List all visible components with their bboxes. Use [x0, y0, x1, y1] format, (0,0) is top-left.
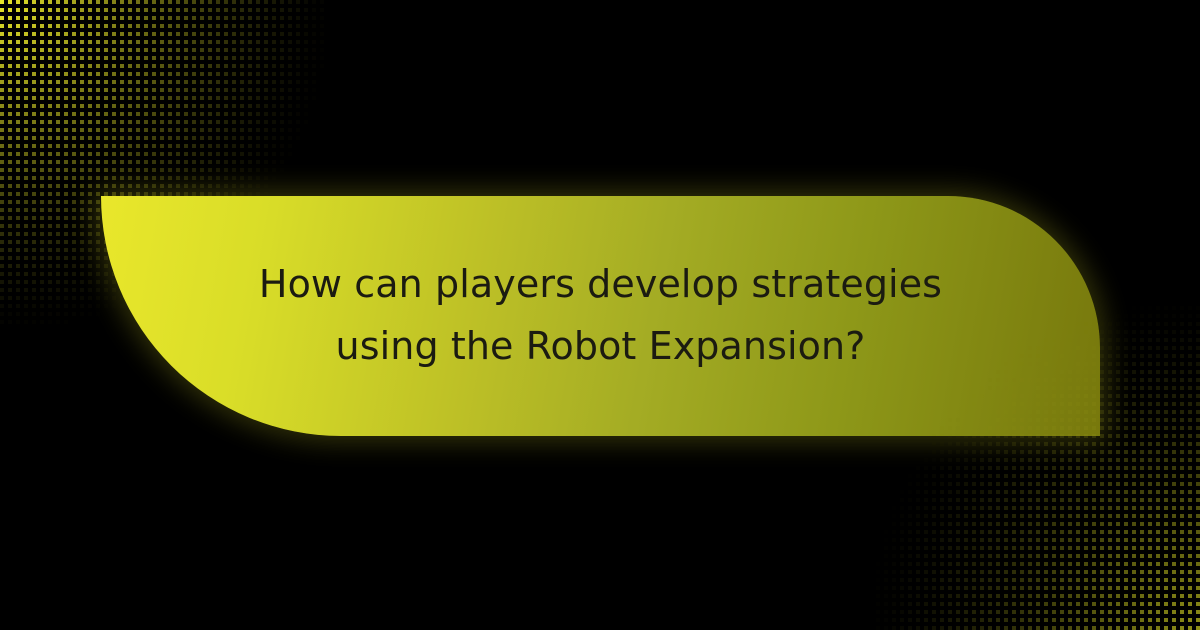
- halftone-dot: [56, 312, 60, 316]
- halftone-dot: [916, 506, 920, 510]
- halftone-dot: [256, 88, 260, 92]
- halftone-dot: [0, 144, 4, 148]
- halftone-dot: [956, 538, 960, 542]
- halftone-dot: [1100, 314, 1104, 318]
- halftone-dot: [1196, 434, 1200, 438]
- halftone-dot: [1028, 618, 1032, 622]
- halftone-dot: [32, 304, 36, 308]
- halftone-dot: [1156, 562, 1160, 566]
- halftone-dot: [1100, 330, 1104, 334]
- halftone-dot: [208, 128, 212, 132]
- halftone-dot: [8, 104, 12, 108]
- halftone-dot: [16, 120, 20, 124]
- halftone-dot: [248, 96, 252, 100]
- halftone-dot: [1084, 570, 1088, 574]
- halftone-dot: [16, 64, 20, 68]
- halftone-dot: [1172, 610, 1176, 614]
- halftone-dot: [216, 96, 220, 100]
- halftone-dot: [152, 40, 156, 44]
- halftone-dot: [8, 136, 12, 140]
- halftone-dot: [8, 96, 12, 100]
- halftone-dot: [1172, 506, 1176, 510]
- halftone-dot: [88, 240, 92, 244]
- halftone-dot: [972, 594, 976, 598]
- halftone-dot: [80, 280, 84, 284]
- halftone-dot: [24, 24, 28, 28]
- halftone-dot: [1180, 434, 1184, 438]
- halftone-dot: [136, 160, 140, 164]
- halftone-dot: [1124, 338, 1128, 342]
- halftone-dot: [1068, 594, 1072, 598]
- halftone-dot: [248, 0, 252, 4]
- halftone-dot: [304, 88, 308, 92]
- halftone-dot: [0, 96, 4, 100]
- halftone-dot: [1180, 402, 1184, 406]
- halftone-dot: [924, 466, 928, 470]
- halftone-dot: [144, 136, 148, 140]
- halftone-dot: [280, 40, 284, 44]
- halftone-dot: [64, 136, 68, 140]
- halftone-dot: [136, 56, 140, 60]
- halftone-dot: [16, 56, 20, 60]
- halftone-dot: [272, 152, 276, 156]
- halftone-dot: [1108, 402, 1112, 406]
- halftone-dot: [128, 24, 132, 28]
- halftone-dot: [1028, 466, 1032, 470]
- halftone-dot: [1172, 522, 1176, 526]
- halftone-dot: [892, 578, 896, 582]
- halftone-dot: [16, 176, 20, 180]
- halftone-dot: [288, 32, 292, 36]
- halftone-dot: [1020, 562, 1024, 566]
- halftone-dot: [72, 216, 76, 220]
- halftone-dot: [232, 56, 236, 60]
- halftone-dot: [112, 56, 116, 60]
- halftone-dot: [176, 96, 180, 100]
- halftone-dot: [64, 32, 68, 36]
- halftone-dot: [200, 112, 204, 116]
- halftone-dot: [932, 466, 936, 470]
- halftone-dot: [1164, 378, 1168, 382]
- halftone-dot: [272, 80, 276, 84]
- halftone-dot: [1164, 522, 1168, 526]
- halftone-dot: [200, 72, 204, 76]
- halftone-dot: [184, 152, 188, 156]
- halftone-dot: [876, 562, 880, 566]
- halftone-dot: [916, 514, 920, 518]
- halftone-dot: [988, 594, 992, 598]
- halftone-dot: [56, 288, 60, 292]
- halftone-dot: [80, 200, 84, 204]
- halftone-dot: [1028, 442, 1032, 446]
- halftone-dot: [40, 272, 44, 276]
- halftone-dot: [1060, 594, 1064, 598]
- halftone-dot: [1156, 570, 1160, 574]
- halftone-dot: [192, 0, 196, 4]
- halftone-dot: [224, 104, 228, 108]
- halftone-dot: [104, 32, 108, 36]
- halftone-dot: [248, 144, 252, 148]
- halftone-dot: [1004, 586, 1008, 590]
- halftone-dot: [1196, 610, 1200, 614]
- halftone-dot: [940, 522, 944, 526]
- halftone-dot: [80, 248, 84, 252]
- halftone-dot: [1180, 626, 1184, 630]
- halftone-dot: [1084, 586, 1088, 590]
- halftone-dot: [956, 522, 960, 526]
- halftone-dot: [128, 112, 132, 116]
- halftone-dot: [264, 64, 268, 68]
- halftone-dot: [1036, 490, 1040, 494]
- halftone-dot: [208, 32, 212, 36]
- halftone-dot: [288, 24, 292, 28]
- halftone-dot: [1108, 426, 1112, 430]
- halftone-dot: [232, 136, 236, 140]
- halftone-dot: [1164, 434, 1168, 438]
- halftone-dot: [988, 522, 992, 526]
- halftone-dot: [72, 0, 76, 4]
- halftone-dot: [1036, 578, 1040, 582]
- halftone-dot: [1060, 626, 1064, 630]
- halftone-dot: [16, 32, 20, 36]
- halftone-dot: [1044, 626, 1048, 630]
- halftone-dot: [320, 48, 324, 52]
- halftone-dot: [224, 40, 228, 44]
- halftone-dot: [24, 64, 28, 68]
- halftone-dot: [1116, 362, 1120, 366]
- halftone-dot: [64, 160, 68, 164]
- halftone-dot: [24, 72, 28, 76]
- halftone-dot: [96, 232, 100, 236]
- halftone-dot: [120, 72, 124, 76]
- halftone-dot: [1156, 586, 1160, 590]
- halftone-dot: [1092, 442, 1096, 446]
- halftone-dot: [0, 88, 4, 92]
- halftone-dot: [1140, 378, 1144, 382]
- halftone-dot: [1188, 506, 1192, 510]
- halftone-dot: [184, 176, 188, 180]
- halftone-dot: [296, 104, 300, 108]
- halftone-dot: [72, 160, 76, 164]
- halftone-dot: [256, 168, 260, 172]
- halftone-dot: [1132, 578, 1136, 582]
- halftone-dot: [948, 594, 952, 598]
- halftone-dot: [1100, 554, 1104, 558]
- halftone-dot: [1140, 330, 1144, 334]
- halftone-dot: [88, 96, 92, 100]
- halftone-dot: [996, 554, 1000, 558]
- halftone-dot: [272, 88, 276, 92]
- halftone-dot: [1020, 506, 1024, 510]
- halftone-dot: [160, 72, 164, 76]
- halftone-dot: [1140, 618, 1144, 622]
- halftone-dot: [940, 490, 944, 494]
- halftone-dot: [232, 16, 236, 20]
- halftone-dot: [144, 104, 148, 108]
- halftone-dot: [1148, 354, 1152, 358]
- halftone-dot: [1148, 474, 1152, 478]
- halftone-dot: [1132, 626, 1136, 630]
- halftone-dot: [144, 64, 148, 68]
- halftone-dot: [1116, 314, 1120, 318]
- halftone-dot: [24, 224, 28, 228]
- halftone-dot: [1180, 314, 1184, 318]
- halftone-dot: [96, 208, 100, 212]
- halftone-dot: [988, 490, 992, 494]
- halftone-dot: [208, 104, 212, 108]
- halftone-dot: [224, 88, 228, 92]
- halftone-dot: [184, 80, 188, 84]
- halftone-dot: [1172, 314, 1176, 318]
- halftone-dot: [964, 466, 968, 470]
- halftone-dot: [240, 112, 244, 116]
- halftone-dot: [1188, 546, 1192, 550]
- halftone-dot: [40, 192, 44, 196]
- halftone-dot: [1116, 594, 1120, 598]
- halftone-dot: [8, 120, 12, 124]
- halftone-dot: [908, 586, 912, 590]
- halftone-dot: [1036, 458, 1040, 462]
- halftone-dot: [248, 32, 252, 36]
- halftone-dot: [1012, 554, 1016, 558]
- halftone-dot: [96, 112, 100, 116]
- halftone-dot: [1100, 498, 1104, 502]
- halftone-dot: [948, 570, 952, 574]
- halftone-dot: [1180, 610, 1184, 614]
- halftone-dot: [0, 224, 4, 228]
- halftone-dot: [1156, 522, 1160, 526]
- halftone-dot: [1172, 554, 1176, 558]
- halftone-dot: [1084, 490, 1088, 494]
- halftone-dot: [972, 458, 976, 462]
- halftone-dot: [1140, 562, 1144, 566]
- halftone-dot: [56, 104, 60, 108]
- halftone-dot: [80, 96, 84, 100]
- halftone-dot: [1092, 514, 1096, 518]
- halftone-dot: [1108, 322, 1112, 326]
- halftone-dot: [932, 578, 936, 582]
- halftone-dot: [988, 482, 992, 486]
- halftone-dot: [96, 144, 100, 148]
- halftone-dot: [192, 144, 196, 148]
- halftone-dot: [104, 16, 108, 20]
- halftone-dot: [948, 458, 952, 462]
- halftone-dot: [72, 176, 76, 180]
- halftone-dot: [56, 120, 60, 124]
- halftone-dot: [72, 136, 76, 140]
- halftone-dot: [264, 112, 268, 116]
- halftone-dot: [40, 152, 44, 156]
- halftone-dot: [892, 530, 896, 534]
- halftone-dot: [1180, 378, 1184, 382]
- halftone-dot: [72, 232, 76, 236]
- halftone-dot: [256, 128, 260, 132]
- halftone-dot: [24, 240, 28, 244]
- halftone-dot: [1196, 546, 1200, 550]
- halftone-dot: [0, 0, 4, 4]
- halftone-dot: [1188, 498, 1192, 502]
- halftone-dot: [248, 24, 252, 28]
- halftone-dot: [1156, 426, 1160, 430]
- halftone-dot: [932, 586, 936, 590]
- halftone-dot: [1100, 578, 1104, 582]
- halftone-dot: [24, 128, 28, 132]
- halftone-dot: [948, 506, 952, 510]
- halftone-dot: [184, 24, 188, 28]
- halftone-dot: [264, 16, 268, 20]
- halftone-dot: [940, 586, 944, 590]
- halftone-dot: [1148, 442, 1152, 446]
- halftone-dot: [980, 442, 984, 446]
- halftone-dot: [1196, 506, 1200, 510]
- halftone-dot: [980, 578, 984, 582]
- halftone-dot: [964, 618, 968, 622]
- halftone-dot: [144, 48, 148, 52]
- halftone-dot: [924, 618, 928, 622]
- halftone-dot: [208, 152, 212, 156]
- halftone-dot: [8, 112, 12, 116]
- halftone-dot: [224, 112, 228, 116]
- halftone-dot: [1196, 378, 1200, 382]
- halftone-dot: [144, 8, 148, 12]
- halftone-dot: [104, 72, 108, 76]
- halftone-dot: [1044, 482, 1048, 486]
- halftone-dot: [32, 272, 36, 276]
- halftone-dot: [288, 72, 292, 76]
- halftone-dot: [1124, 450, 1128, 454]
- halftone-dot: [240, 128, 244, 132]
- halftone-dot: [88, 176, 92, 180]
- halftone-dot: [176, 160, 180, 164]
- halftone-dot: [1076, 594, 1080, 598]
- halftone-dot: [1180, 530, 1184, 534]
- halftone-dot: [1028, 514, 1032, 518]
- halftone-dot: [136, 136, 140, 140]
- halftone-dot: [16, 72, 20, 76]
- halftone-dot: [1108, 482, 1112, 486]
- halftone-dot: [16, 136, 20, 140]
- halftone-dot: [1100, 410, 1104, 414]
- halftone-dot: [288, 56, 292, 60]
- halftone-dot: [192, 64, 196, 68]
- halftone-dot: [1020, 586, 1024, 590]
- halftone-dot: [1164, 306, 1168, 310]
- halftone-dot: [248, 120, 252, 124]
- halftone-dot: [1108, 354, 1112, 358]
- halftone-dot: [1068, 570, 1072, 574]
- halftone-dot: [1196, 618, 1200, 622]
- halftone-dot: [1188, 570, 1192, 574]
- halftone-dot: [1060, 586, 1064, 590]
- halftone-dot: [1140, 362, 1144, 366]
- halftone-dot: [312, 8, 316, 12]
- halftone-dot: [224, 136, 228, 140]
- halftone-dot: [72, 264, 76, 268]
- halftone-dot: [948, 490, 952, 494]
- halftone-dot: [72, 16, 76, 20]
- halftone-dot: [988, 450, 992, 454]
- halftone-dot: [1188, 522, 1192, 526]
- halftone-dot: [56, 88, 60, 92]
- halftone-dot: [112, 120, 116, 124]
- halftone-dot: [1012, 474, 1016, 478]
- halftone-dot: [1156, 482, 1160, 486]
- halftone-dot: [1060, 554, 1064, 558]
- halftone-dot: [1132, 530, 1136, 534]
- halftone-dot: [168, 32, 172, 36]
- halftone-dot: [208, 56, 212, 60]
- halftone-dot: [224, 144, 228, 148]
- halftone-dot: [80, 32, 84, 36]
- halftone-dot: [924, 626, 928, 630]
- halftone-dot: [1196, 570, 1200, 574]
- halftone-dot: [972, 554, 976, 558]
- halftone-dot: [948, 538, 952, 542]
- halftone-dot: [104, 168, 108, 172]
- halftone-dot: [264, 24, 268, 28]
- halftone-dot: [80, 240, 84, 244]
- halftone-dot: [1188, 410, 1192, 414]
- halftone-dot: [1004, 482, 1008, 486]
- halftone-dot: [64, 312, 68, 316]
- halftone-dot: [1036, 530, 1040, 534]
- halftone-dot: [128, 152, 132, 156]
- halftone-dot: [96, 280, 100, 284]
- halftone-dot: [272, 136, 276, 140]
- halftone-dot: [192, 120, 196, 124]
- halftone-dot: [296, 136, 300, 140]
- halftone-dot: [40, 56, 44, 60]
- halftone-dot: [1148, 394, 1152, 398]
- halftone-dot: [160, 160, 164, 164]
- halftone-dot: [980, 450, 984, 454]
- halftone-dot: [296, 128, 300, 132]
- halftone-dot: [120, 80, 124, 84]
- halftone-dot: [940, 514, 944, 518]
- halftone-dot: [160, 40, 164, 44]
- halftone-dot: [916, 594, 920, 598]
- halftone-dot: [56, 168, 60, 172]
- halftone-dot: [1172, 386, 1176, 390]
- halftone-dot: [1044, 474, 1048, 478]
- halftone-dot: [1196, 474, 1200, 478]
- halftone-dot: [1148, 602, 1152, 606]
- halftone-dot: [1148, 330, 1152, 334]
- halftone-dot: [996, 586, 1000, 590]
- halftone-dot: [16, 48, 20, 52]
- halftone-dot: [1044, 610, 1048, 614]
- halftone-dot: [988, 498, 992, 502]
- halftone-dot: [932, 554, 936, 558]
- halftone-dot: [32, 48, 36, 52]
- halftone-dot: [916, 474, 920, 478]
- halftone-dot: [1156, 418, 1160, 422]
- halftone-dot: [1076, 618, 1080, 622]
- halftone-dot: [8, 216, 12, 220]
- halftone-dot: [256, 96, 260, 100]
- halftone-dot: [88, 288, 92, 292]
- halftone-dot: [88, 80, 92, 84]
- halftone-dot: [168, 96, 172, 100]
- halftone-dot: [884, 554, 888, 558]
- halftone-dot: [80, 112, 84, 116]
- halftone-dot: [128, 16, 132, 20]
- halftone-dot: [1188, 378, 1192, 382]
- halftone-dot: [32, 128, 36, 132]
- halftone-dot: [1148, 514, 1152, 518]
- halftone-dot: [948, 610, 952, 614]
- halftone-dot: [8, 208, 12, 212]
